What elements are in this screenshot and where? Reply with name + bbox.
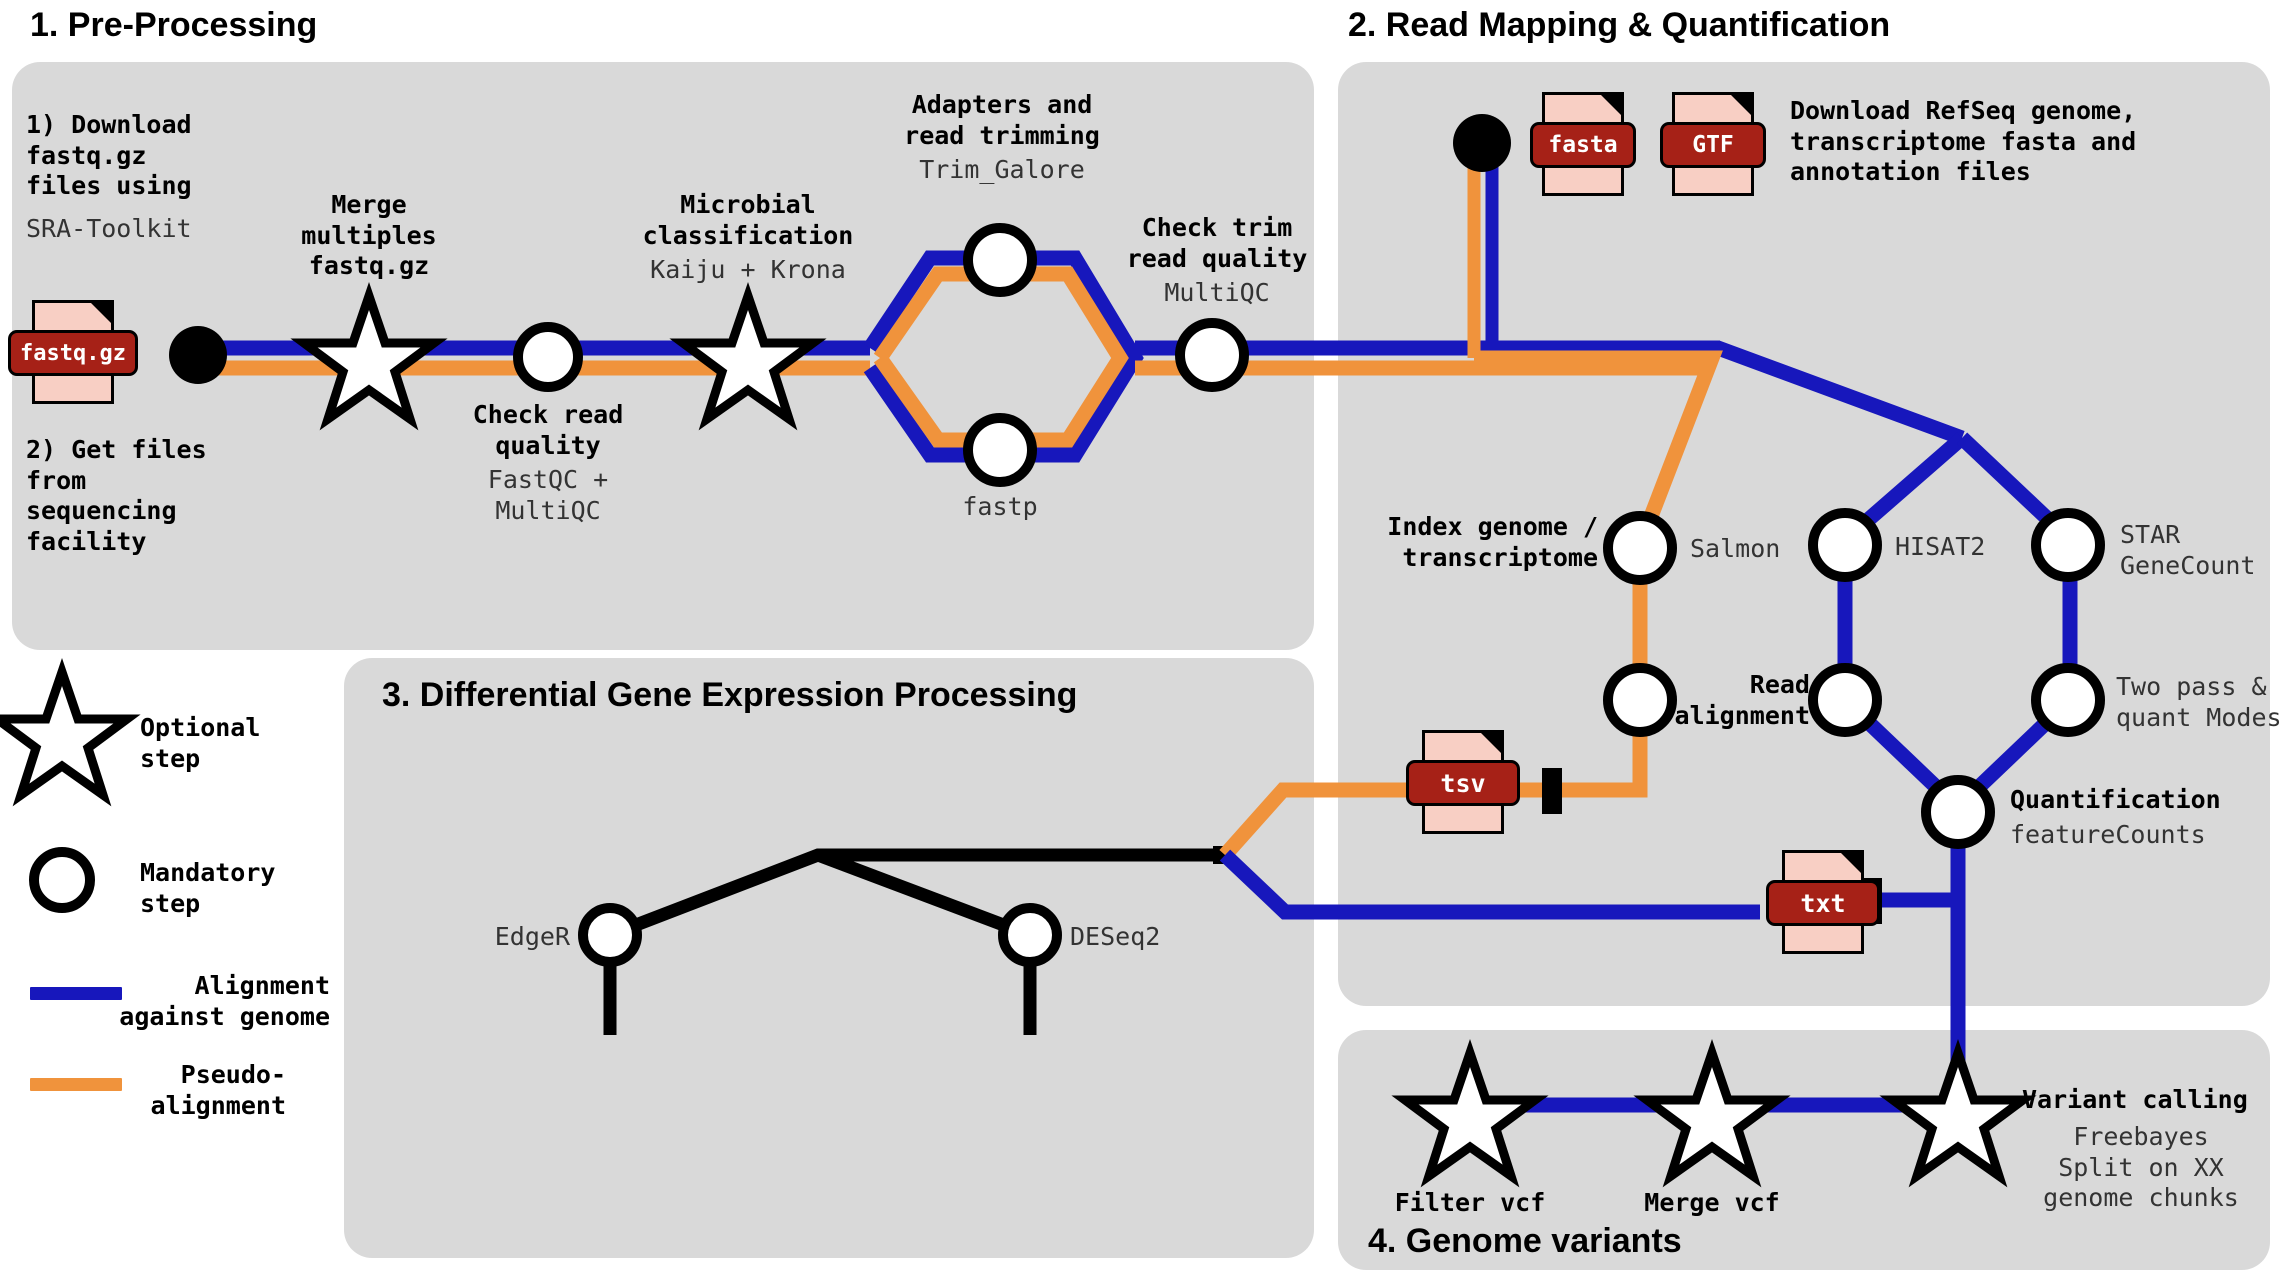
- label-get-files: 2) Get files from sequencing facility: [26, 435, 207, 557]
- label-read-alignment: Read alignment: [1560, 670, 1810, 731]
- legend-label-optional: Optional step: [140, 713, 260, 774]
- file-fold-corner: [1478, 730, 1504, 756]
- label-star-genecount: STAR GeneCount: [2120, 520, 2255, 581]
- label-check-trim-quality: Check trim read quality: [1092, 213, 1342, 274]
- section-title-variants: 4. Genome variants: [1368, 1222, 1682, 1261]
- panel-dge: [344, 658, 1314, 1258]
- legend-label-pseudo: Pseudo- alignment: [20, 1060, 286, 1121]
- file-icon-fasta[interactable]: fasta: [1542, 92, 1624, 196]
- file-icon-txt[interactable]: txt: [1782, 850, 1864, 954]
- label-quantification: Quantification: [2010, 785, 2221, 816]
- label-trim-galore: Trim_Galore: [858, 155, 1146, 186]
- label-check-read-quality: Check read quality: [428, 400, 668, 461]
- file-fold-corner: [1598, 92, 1624, 118]
- label-hisat2: HISAT2: [1895, 532, 1985, 563]
- label-variant-calling: Variant calling: [2022, 1085, 2248, 1116]
- legend-label-alignment: Alignment against genome: [20, 971, 330, 1032]
- section-title-mapping: 2. Read Mapping & Quantification: [1348, 6, 1890, 45]
- file-icon-gtf[interactable]: GTF: [1672, 92, 1754, 196]
- label-merge-fastq: Merge multiples fastq.gz: [249, 190, 489, 282]
- file-label-fastq: fastq.gz: [8, 330, 138, 376]
- label-freebayes: Freebayes Split on XX genome chunks: [2016, 1122, 2266, 1214]
- file-icon-tsv[interactable]: tsv: [1422, 730, 1504, 834]
- label-filter-vcf: Filter vcf: [1360, 1188, 1580, 1219]
- label-index-genome: Index genome / transcriptome: [1330, 512, 1598, 573]
- label-edger: EdgeR: [400, 922, 570, 953]
- section-title-preprocessing: 1. Pre-Processing: [30, 6, 317, 45]
- file-label-fasta: fasta: [1530, 122, 1636, 168]
- label-download-fastq: 1) Download fastq.gz files using: [26, 110, 192, 202]
- file-fold-corner: [1728, 92, 1754, 118]
- label-deseq2: DESeq2: [1070, 922, 1160, 953]
- label-multiqc: MultiQC: [1092, 278, 1342, 309]
- file-icon-fastq[interactable]: fastq.gz: [32, 300, 114, 404]
- label-microbial-classification: Microbial classification: [608, 190, 888, 251]
- file-fold-corner: [88, 300, 114, 326]
- section-title-dge: 3. Differential Gene Expression Processi…: [382, 676, 1077, 715]
- label-featurecounts: featureCounts: [2010, 820, 2206, 851]
- label-sra-toolkit: SRA-Toolkit: [26, 214, 192, 245]
- label-adapters-trimming: Adapters and read trimming: [858, 90, 1146, 151]
- label-two-pass-quant: Two pass & quant Modes: [2116, 672, 2282, 733]
- legend-label-mandatory: Mandatory step: [140, 858, 275, 919]
- file-fold-corner: [1838, 850, 1864, 876]
- file-label-tsv: tsv: [1406, 760, 1520, 806]
- label-merge-vcf: Merge vcf: [1602, 1188, 1822, 1219]
- file-label-txt: txt: [1766, 880, 1880, 926]
- label-fastqc-multiqc: FastQC + MultiQC: [428, 465, 668, 526]
- label-download-refseq: Download RefSeq genome, transcriptome fa…: [1790, 96, 2136, 188]
- file-label-gtf: GTF: [1660, 122, 1766, 168]
- label-fastp: fastp: [900, 492, 1100, 523]
- label-kaiju-krona: Kaiju + Krona: [608, 255, 888, 286]
- label-salmon: Salmon: [1690, 534, 1780, 565]
